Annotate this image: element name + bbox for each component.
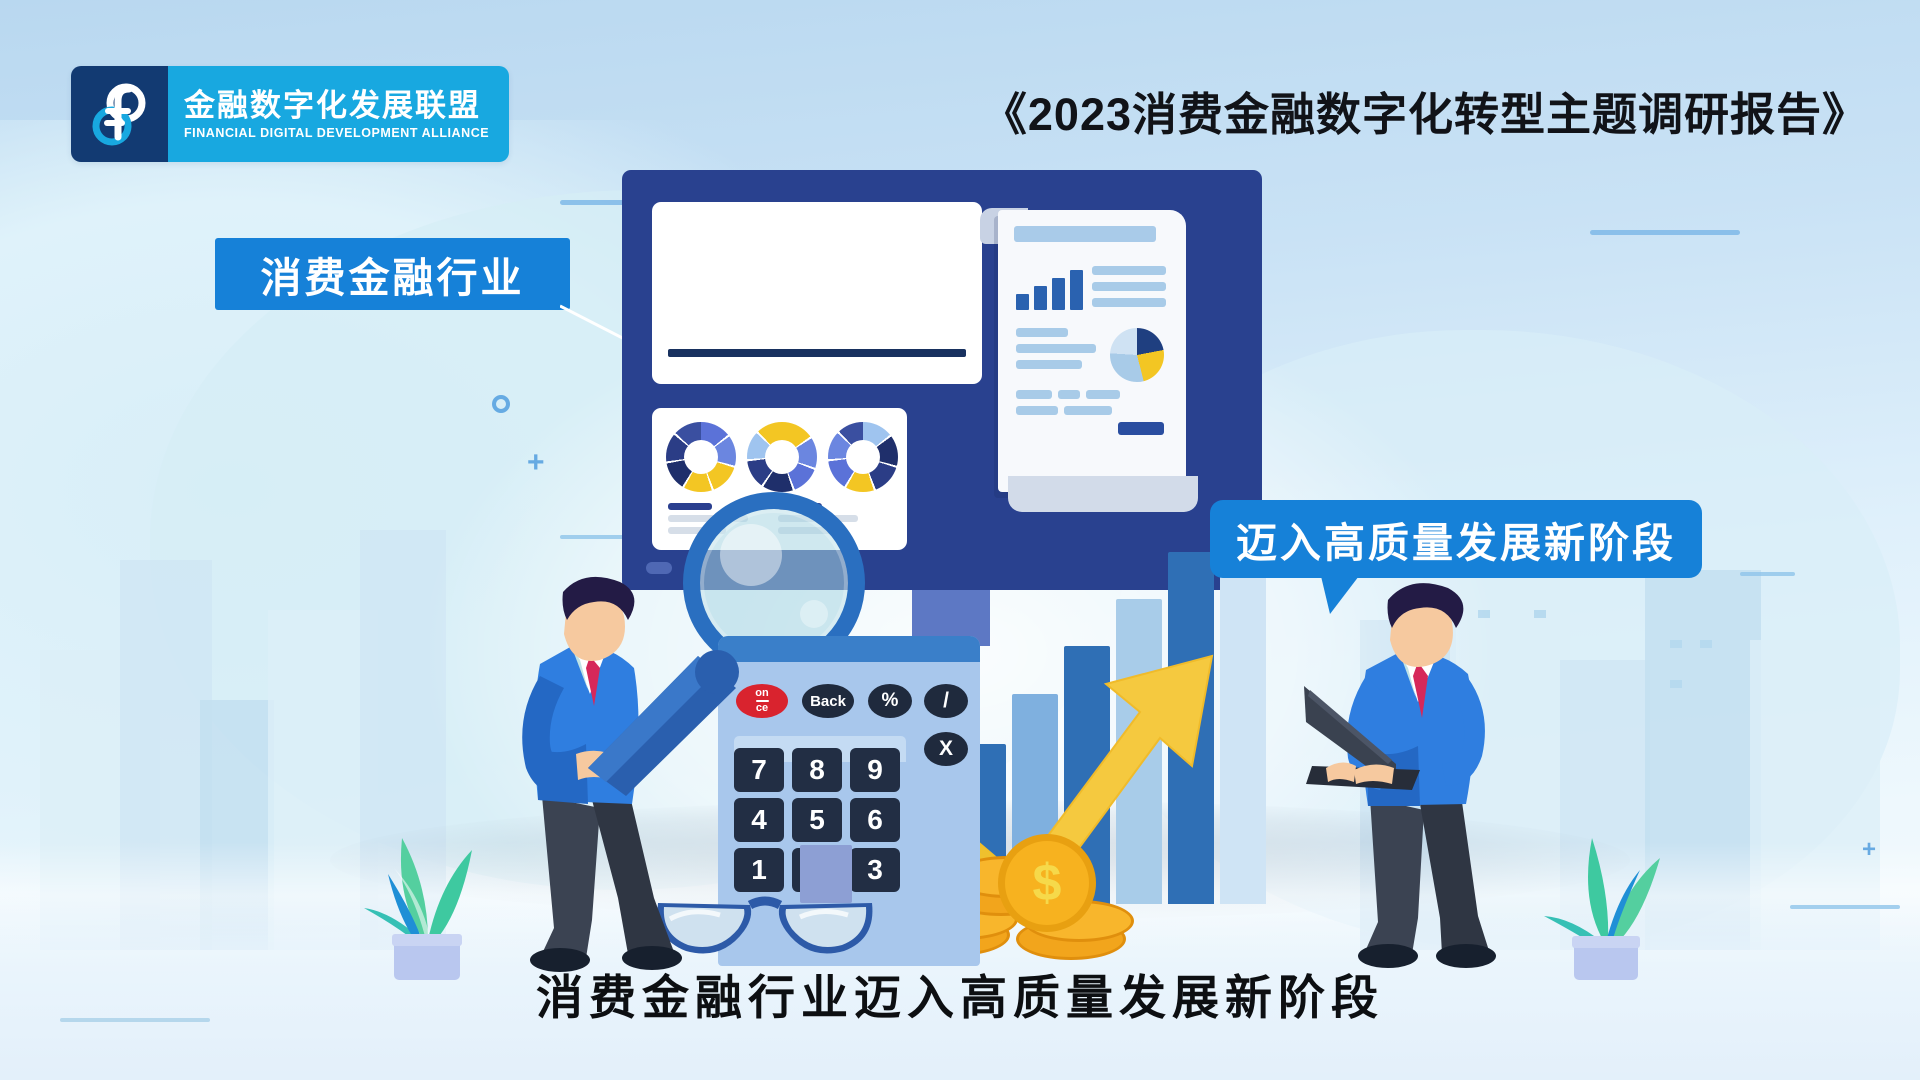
decor-plus-icon: +	[1862, 838, 1876, 862]
document-pie-chart	[1110, 328, 1164, 382]
document-text-line	[1086, 390, 1120, 399]
callout-badge-left: 消费金融行业	[215, 238, 570, 310]
document-text-line	[1092, 282, 1166, 291]
decor-line	[1590, 230, 1740, 235]
logo-name-en: FINANCIAL DIGITAL DEVELOPMENT ALLIANCE	[184, 126, 489, 140]
decor-plus-icon: +	[527, 448, 545, 478]
calculator-key-8[interactable]: 8	[792, 748, 842, 792]
dollar-coin: $	[998, 834, 1096, 932]
calculator-back-key[interactable]: Back	[802, 684, 854, 718]
donut-chart-1	[666, 422, 736, 492]
logo-text-block: 金融数字化发展联盟 FINANCIAL DIGITAL DEVELOPMENT …	[168, 66, 509, 162]
document-text-line	[1016, 360, 1082, 369]
callout-tail-right	[1316, 570, 1406, 630]
calculator-percent-key[interactable]: %	[868, 684, 912, 718]
report-document	[980, 194, 1202, 512]
callout-badge-right: 迈入高质量发展新阶段	[1210, 500, 1702, 578]
poster-canvas: + + 金融数字化发展联盟 FINANCIAL DIGITAL DEVELOPM…	[0, 0, 1920, 1080]
document-text-line	[1016, 344, 1096, 353]
bottom-caption: 消费金融行业迈入高质量发展新阶段	[0, 959, 1920, 1028]
dollar-symbol: $	[1033, 857, 1062, 909]
calculator-key-5[interactable]: 5	[792, 798, 842, 842]
document-text-line	[1016, 390, 1052, 399]
callout-badge-right-label: 迈入高质量发展新阶段	[1236, 509, 1676, 569]
document-text-line	[1092, 298, 1166, 307]
alliance-logo: 金融数字化发展联盟 FINANCIAL DIGITAL DEVELOPMENT …	[71, 66, 509, 162]
calculator-multiply-key[interactable]: X	[924, 732, 968, 766]
callout-badge-left-label: 消费金融行业	[261, 244, 525, 304]
logo-name-cn: 金融数字化发展联盟	[184, 89, 489, 122]
donut-row	[666, 422, 898, 492]
calculator-key-9[interactable]: 9	[850, 748, 900, 792]
monitor-bar-chart-panel	[652, 202, 982, 384]
magnifier-gloss	[800, 600, 828, 628]
donut-chart-2	[747, 422, 817, 492]
document-curl-bottom	[1008, 476, 1198, 512]
decor-ring-icon	[492, 395, 510, 413]
calculator-key-6[interactable]: 6	[850, 798, 900, 842]
document-text-line	[1064, 406, 1112, 415]
document-text-line	[1016, 406, 1058, 415]
monitor-bar-chart	[676, 233, 962, 351]
document-stamp	[1118, 422, 1164, 435]
decor-dash	[1740, 572, 1795, 576]
document-body	[998, 210, 1186, 492]
document-title-line	[1014, 226, 1156, 242]
monitor-chart-axis	[668, 349, 966, 357]
document-text-line	[1092, 266, 1166, 275]
page-title: 《2023消费金融数字化转型主题调研报告》	[982, 78, 1868, 143]
decor-dash	[1790, 905, 1900, 909]
plant-left	[336, 790, 516, 980]
plant-right	[1508, 800, 1698, 980]
document-bar-chart	[1016, 262, 1084, 310]
document-text-line	[1016, 328, 1068, 337]
donut-chart-3	[828, 422, 898, 492]
calculator-divide-key[interactable]: /	[924, 684, 968, 718]
document-text-line	[1058, 390, 1080, 399]
logo-mark-icon	[71, 66, 168, 162]
